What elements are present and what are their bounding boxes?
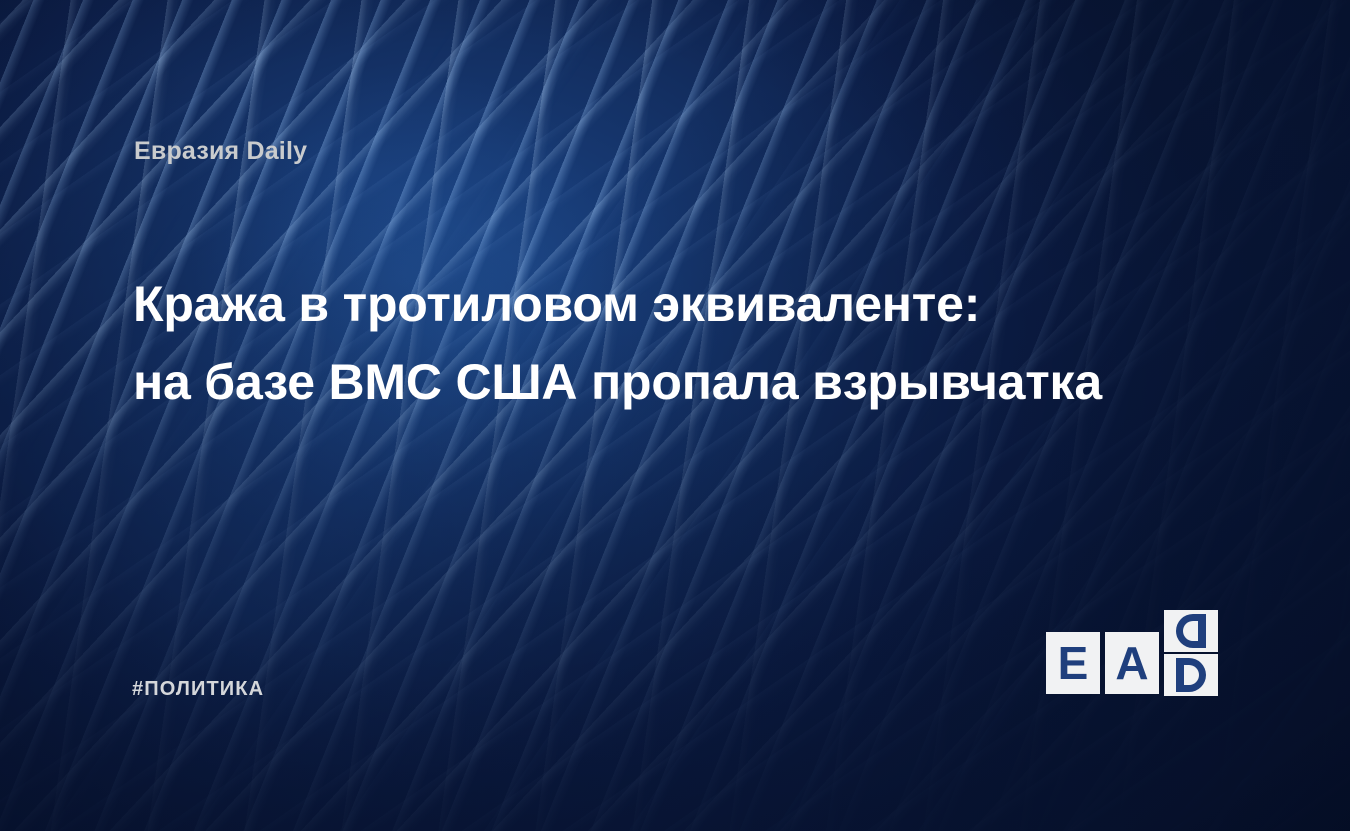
d-icon (1176, 658, 1206, 692)
logo-tile-d-top (1164, 610, 1218, 652)
logo-tile-d-bottom (1164, 654, 1218, 696)
brand-name: Евразия Daily (134, 137, 307, 166)
logo-tile-a: A (1105, 632, 1159, 694)
headline: Кража в тротиловом эквиваленте: на базе … (133, 265, 1253, 421)
logo-tile-e: E (1046, 632, 1100, 694)
d-rotated-icon (1176, 614, 1206, 648)
headline-line-1: Кража в тротиловом эквиваленте: (133, 265, 1253, 343)
headline-line-2: на базе ВМС США пропала взрывчатка (133, 343, 1253, 421)
category-hashtag[interactable]: #ПОЛИТИКА (132, 678, 264, 701)
logo-tile-stack (1164, 610, 1218, 696)
card-content: Евразия Daily Кража в тротиловом эквивал… (0, 0, 1350, 831)
news-share-card: Евразия Daily Кража в тротиловом эквивал… (0, 0, 1350, 831)
eadaily-logo[interactable]: E A (1046, 632, 1218, 696)
